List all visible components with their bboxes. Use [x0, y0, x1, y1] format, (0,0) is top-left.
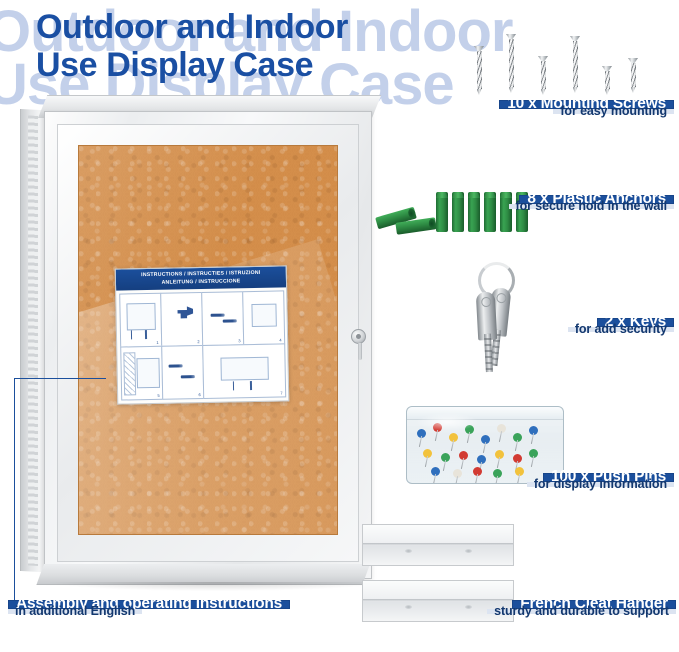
step-number: 2: [197, 339, 199, 344]
page-title: Outdoor and Indoor Use Display Case: [36, 8, 466, 84]
instruction-steps-grid: 1 2 3 4 5: [116, 287, 288, 402]
screw: [570, 36, 580, 93]
instruction-step: 2: [160, 292, 203, 347]
callout-plastic-anchors: 8 x Plastic Anchors for secure hold in t…: [488, 195, 674, 209]
instruction-step: 5: [120, 345, 163, 400]
step-board-icon: [221, 357, 269, 381]
callout-mounting-screws: 10 x Mounting Screws for easy mounting: [438, 100, 674, 114]
plastic-anchors-image: [372, 182, 522, 240]
step-number: 4: [279, 337, 281, 342]
screw: [474, 46, 484, 95]
step-number: 7: [280, 390, 282, 395]
page-title-line-2: Use Display Case: [36, 46, 466, 84]
display-case-product-image: INSTRUCTIONS / INSTRUCTIES / ISTRUZIONI …: [20, 95, 370, 585]
step-number: 6: [198, 392, 200, 397]
callout-subtitle: for add security: [568, 327, 674, 332]
instruction-step: 1: [119, 292, 162, 347]
screw: [602, 66, 612, 95]
case-side-ridges: [28, 115, 38, 566]
callout-french-cleat-hanger: French Cleat Hanger sturdy and durable t…: [470, 600, 676, 614]
instruction-sheet: INSTRUCTIONS / INSTRUCTIES / ISTRUZIONI …: [115, 265, 290, 404]
page-title-line-1: Outdoor and Indoor: [36, 8, 348, 46]
anchor: [436, 192, 448, 232]
callout-push-pins: 100 x Push Pins for display information: [500, 473, 674, 487]
callout-subtitle: in additional English: [8, 609, 142, 614]
instruction-step: 7: [202, 343, 286, 399]
door-lock-stem: [358, 343, 362, 360]
infographic-canvas: Outdoor and Indoor Use Display Case Outd…: [0, 0, 679, 652]
leader-line-horizontal: [14, 378, 106, 379]
case-left-side-panel: [20, 109, 47, 572]
callout-subtitle: for easy mounting: [553, 109, 674, 114]
callout-subtitle: sturdy and durable to support: [487, 609, 676, 614]
mounting-screws-image: [470, 22, 650, 100]
screw: [538, 56, 548, 95]
callout-subtitle: for display information: [527, 482, 674, 487]
instruction-step: 4: [242, 290, 285, 345]
anchor: [452, 192, 464, 232]
callout-subtitle: for secure hold in the wall: [509, 204, 675, 209]
anchor: [468, 192, 480, 232]
case-drop-shadow: [50, 582, 380, 591]
instruction-step: 3: [201, 291, 244, 346]
cleat-strip: [362, 524, 514, 566]
callout-keys: 2 x Keys for add security: [498, 318, 674, 332]
step-number: 3: [238, 338, 240, 343]
screw: [506, 34, 516, 93]
door-lock-icon: [351, 329, 366, 344]
step-wall-hatch: [123, 352, 136, 396]
key: [476, 292, 497, 341]
step-drill-icon: [177, 306, 193, 318]
leader-line-vertical: [14, 378, 15, 600]
callout-assembly-instructions: Assembly and operating instructions in a…: [8, 600, 338, 614]
step-number: 5: [157, 392, 159, 397]
step-board-icon: [252, 304, 277, 327]
screw: [628, 58, 638, 93]
instruction-step: 6: [161, 345, 204, 400]
step-number: 1: [156, 339, 158, 344]
step-board-icon: [126, 303, 156, 331]
